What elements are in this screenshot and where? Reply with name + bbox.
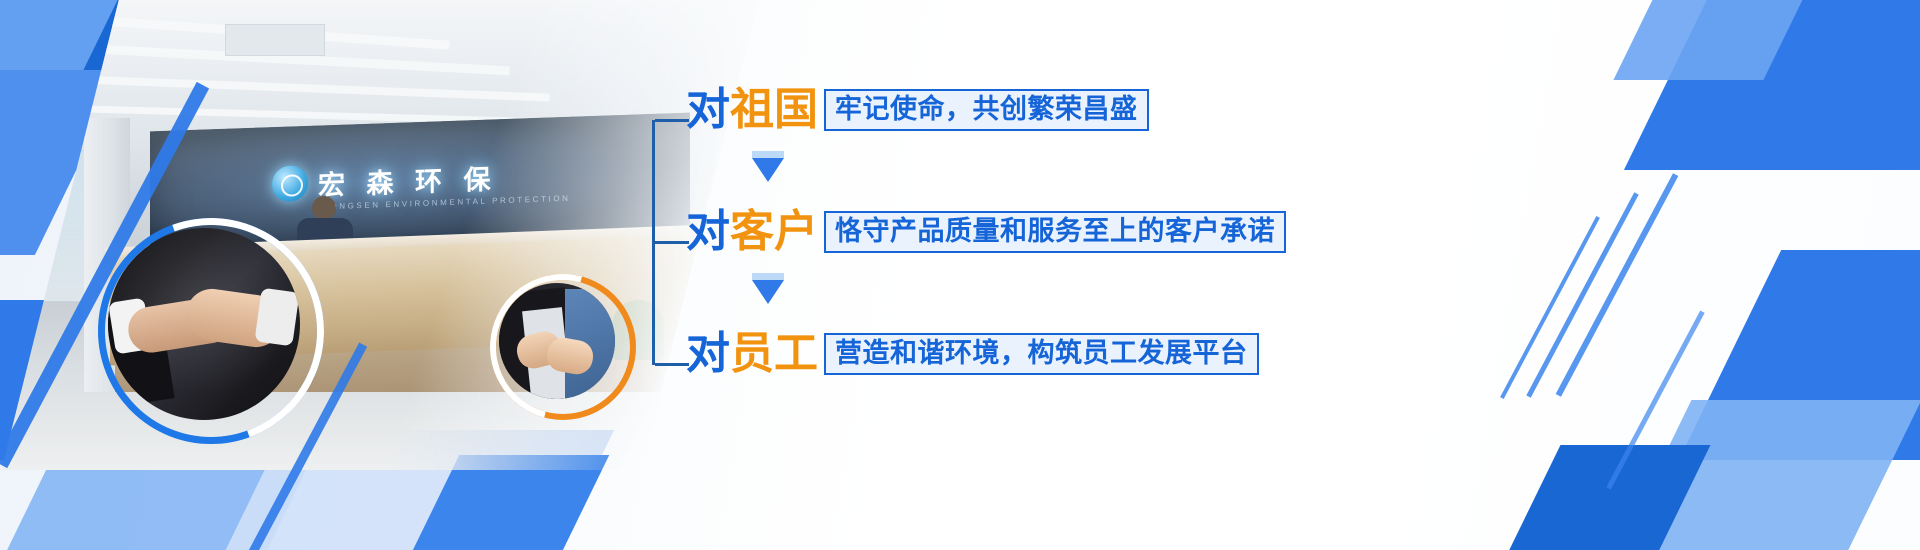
culture-row-1: 对祖国 牢记使命，共创繁荣昌盛 bbox=[686, 88, 1149, 132]
globe-logo-icon bbox=[272, 165, 308, 202]
ceiling-strip bbox=[50, 74, 550, 101]
culture-row-2: 对客户 恪守产品质量和服务至上的客户承诺 bbox=[686, 210, 1286, 254]
culture-row-1-lead-blue: 对 bbox=[686, 84, 730, 135]
triangle-down-icon-1 bbox=[752, 158, 784, 182]
decor-diagonal-stroke-right-2 bbox=[1526, 192, 1638, 397]
decor-diagonal-stroke-right-3 bbox=[1500, 216, 1600, 399]
culture-row-2-phrase: 恪守产品质量和服务至上的客户承诺 bbox=[824, 211, 1286, 253]
culture-row-3-lead-orange: 员工 bbox=[730, 328, 818, 379]
handshake-photo-blue-ring bbox=[98, 218, 324, 444]
bracket-tick-3 bbox=[655, 363, 689, 366]
culture-row-2-lead: 对客户 bbox=[686, 210, 818, 254]
culture-row-1-lead: 对祖国 bbox=[686, 88, 818, 132]
teamwork-photo-orange-ring bbox=[490, 274, 636, 420]
culture-row-1-phrase: 牢记使命，共创繁荣昌盛 bbox=[824, 89, 1149, 131]
culture-row-2-lead-orange: 客户 bbox=[730, 206, 818, 257]
company-sign-text: 宏 森 环 保 bbox=[318, 157, 498, 202]
culture-row-1-lead-orange: 祖国 bbox=[730, 84, 818, 135]
culture-row-3-lead-blue: 对 bbox=[686, 328, 730, 379]
arrow-cap-2 bbox=[752, 273, 784, 280]
culture-row-2-lead-blue: 对 bbox=[686, 206, 730, 257]
decor-diagonal-stroke-right-1 bbox=[1556, 173, 1679, 397]
staff-figure-head bbox=[312, 196, 336, 220]
triangle-down-icon-2 bbox=[752, 280, 784, 304]
bracket-tick-1 bbox=[655, 119, 689, 122]
ceiling-vent bbox=[225, 24, 325, 56]
culture-row-3-lead: 对员工 bbox=[686, 332, 818, 376]
culture-row-3: 对员工 营造和谐环境，构筑员工发展平台 bbox=[686, 332, 1259, 376]
arrow-cap-1 bbox=[752, 151, 784, 158]
bracket-connector-icon bbox=[652, 120, 689, 365]
bracket-tick-2 bbox=[655, 241, 689, 244]
culture-statement-list: 对祖国 牢记使命，共创繁荣昌盛 对客户 恪守产品质量和服务至上的客户承诺 对员工… bbox=[652, 78, 1372, 408]
culture-row-3-phrase: 营造和谐环境，构筑员工发展平台 bbox=[824, 333, 1259, 375]
company-culture-banner: 宏 森 环 保 HONGSEN ENVIRONMENTAL PROTECTION bbox=[0, 0, 1920, 550]
